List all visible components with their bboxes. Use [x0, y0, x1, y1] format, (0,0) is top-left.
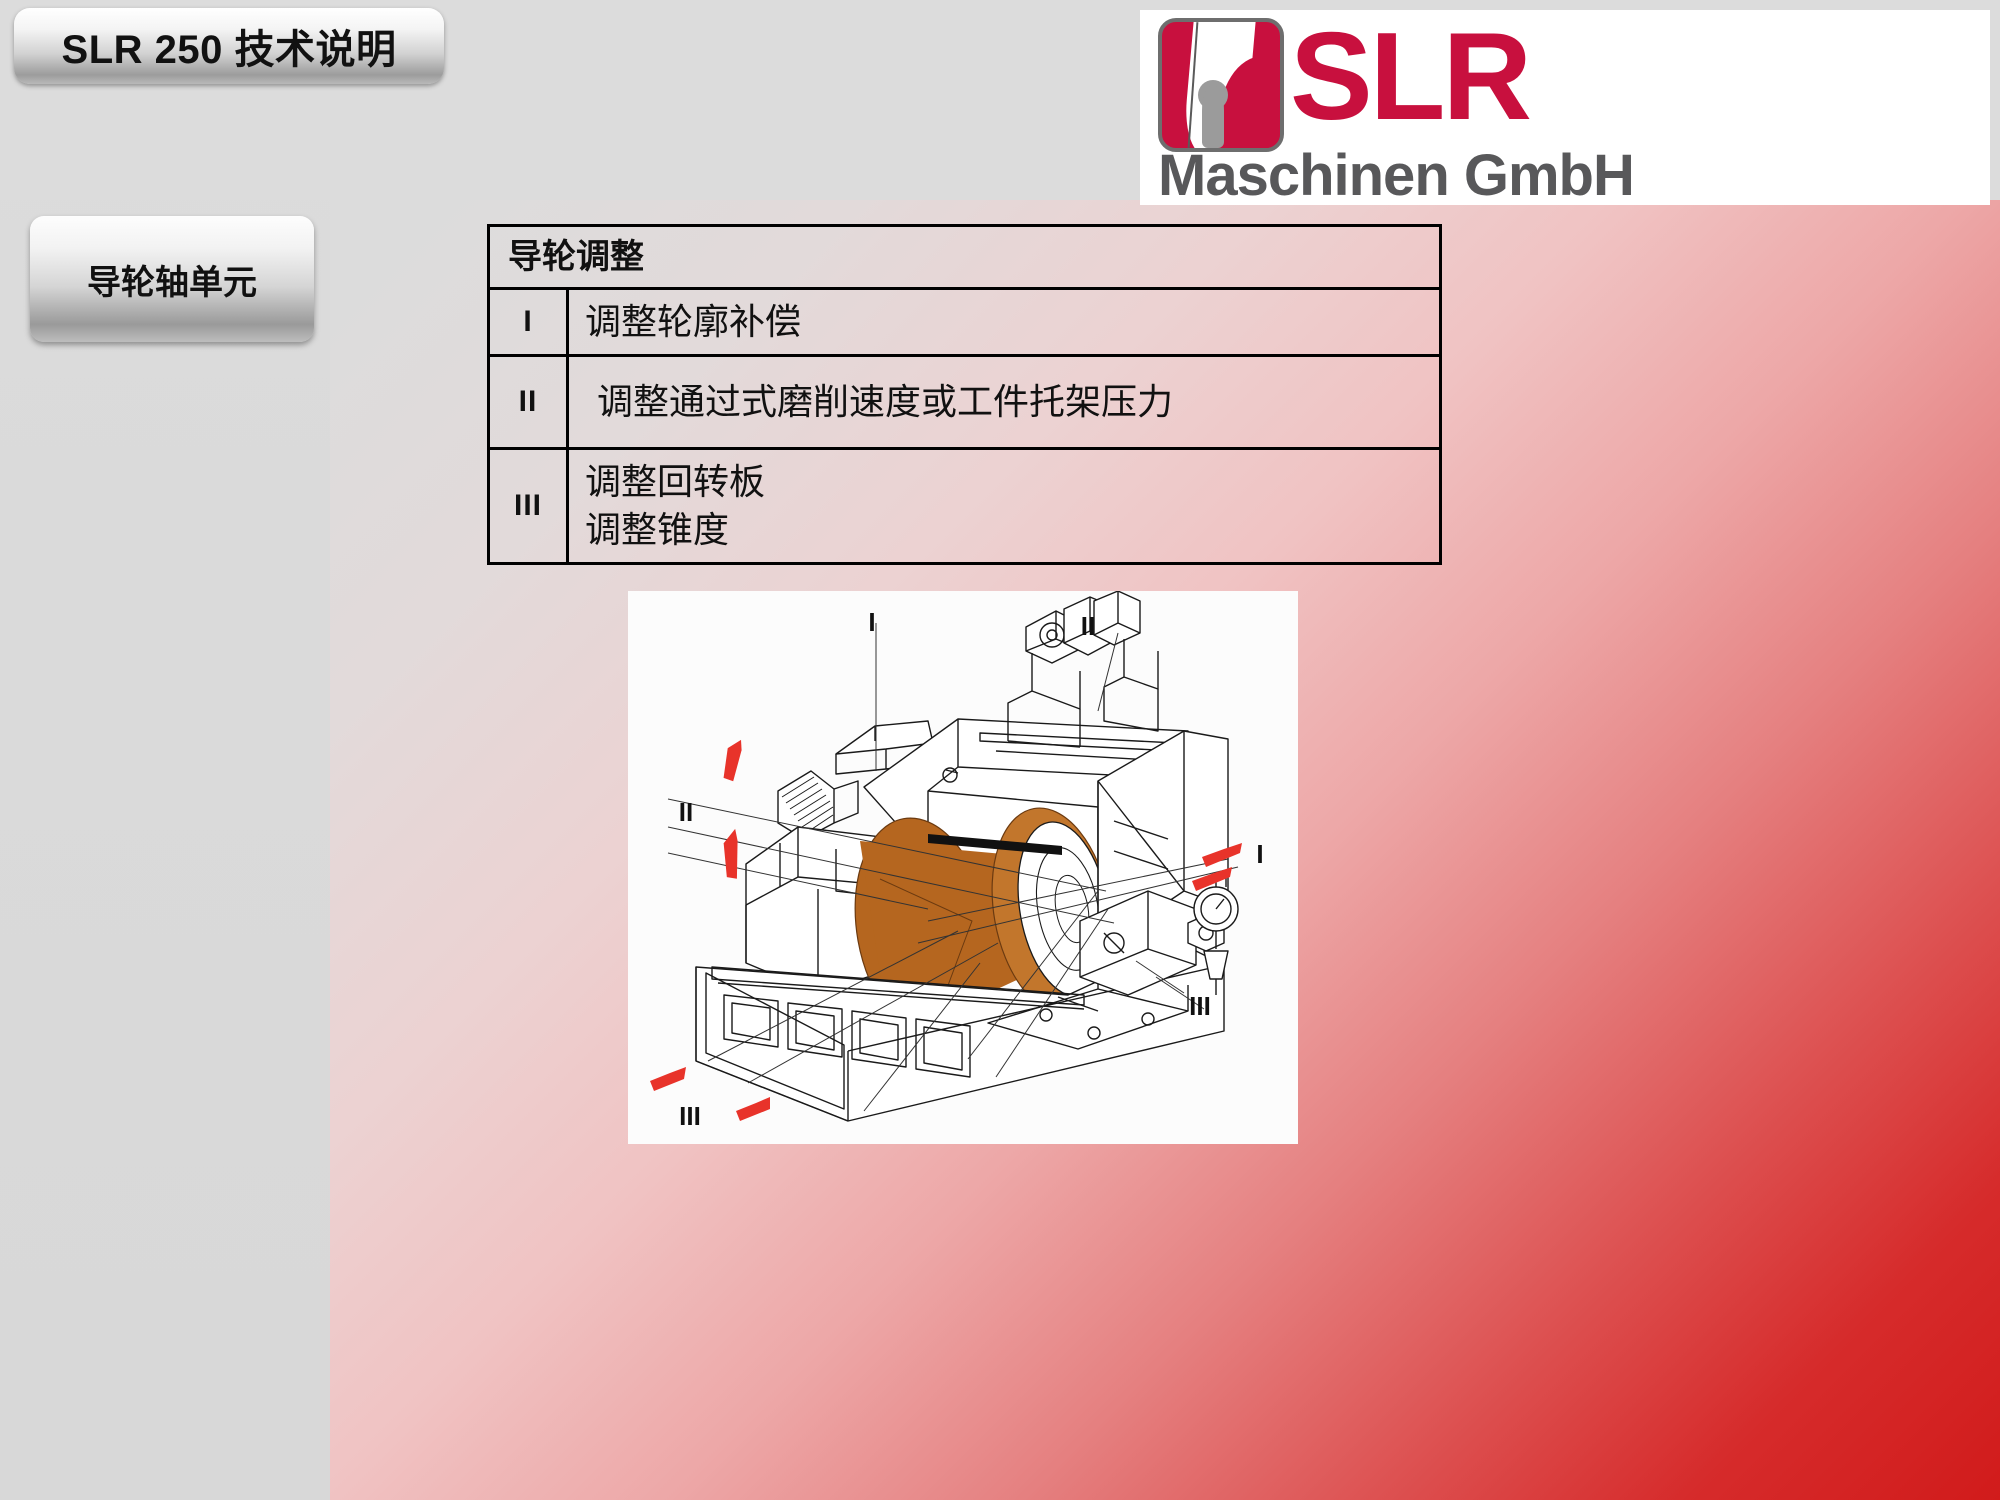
row-numeral: II	[490, 357, 569, 447]
row-text-multiline: 调整回转板 调整锥度	[569, 450, 1439, 562]
slide-root: SLR 250 技术说明 SLR Maschinen GmbH 导轮轴单元 导轮…	[0, 0, 2000, 1500]
table-row[interactable]: I 调整轮廓补偿	[490, 287, 1439, 354]
callout-bottom-III: III	[679, 1101, 701, 1131]
table-row[interactable]: III 调整回转板 调整锥度	[490, 447, 1439, 562]
sidebar-item-guide-wheel-shaft-unit[interactable]: 导轮轴单元	[30, 216, 314, 342]
row-text-line2: 调整锥度	[585, 506, 1429, 554]
logo-brand-text: SLR	[1290, 18, 1529, 136]
logo-row: SLR	[1150, 18, 1980, 146]
row-text: 调整通过式磨削速度或工件托架压力	[569, 357, 1439, 447]
machine-diagram-panel: I II II I III III	[628, 591, 1298, 1144]
callout-top-I: I	[868, 607, 875, 637]
callout-top-II: II	[1081, 611, 1095, 641]
page-title-chip[interactable]: SLR 250 技术说明	[14, 8, 444, 84]
callout-left-II: II	[679, 797, 693, 827]
row-numeral: III	[490, 450, 569, 562]
table-header-row: 导轮调整	[490, 227, 1439, 287]
callout-right-I: I	[1256, 839, 1263, 869]
machine-diagram-svg: I II II I III III	[628, 591, 1298, 1144]
table-header-label: 导轮调整	[490, 227, 644, 287]
page-title: SLR 250 技术说明	[62, 17, 397, 75]
sidebar-item-label: 导轮轴单元	[87, 255, 257, 304]
logo-subtitle-text: Maschinen GmbH	[1158, 146, 1980, 206]
callout-right-III: III	[1189, 991, 1211, 1021]
adjustment-table: 导轮调整 I 调整轮廓补偿 II 调整通过式磨削速度或工件托架压力 III 调整…	[487, 224, 1442, 565]
row-text-line1: 调整回转板	[585, 458, 1429, 506]
row-text: 调整轮廓补偿	[569, 290, 1439, 354]
slr-mark-icon	[1158, 18, 1284, 152]
table-row[interactable]: II 调整通过式磨削速度或工件托架压力	[490, 354, 1439, 447]
company-logo: SLR Maschinen GmbH	[1140, 10, 1990, 205]
row-numeral: I	[490, 290, 569, 354]
